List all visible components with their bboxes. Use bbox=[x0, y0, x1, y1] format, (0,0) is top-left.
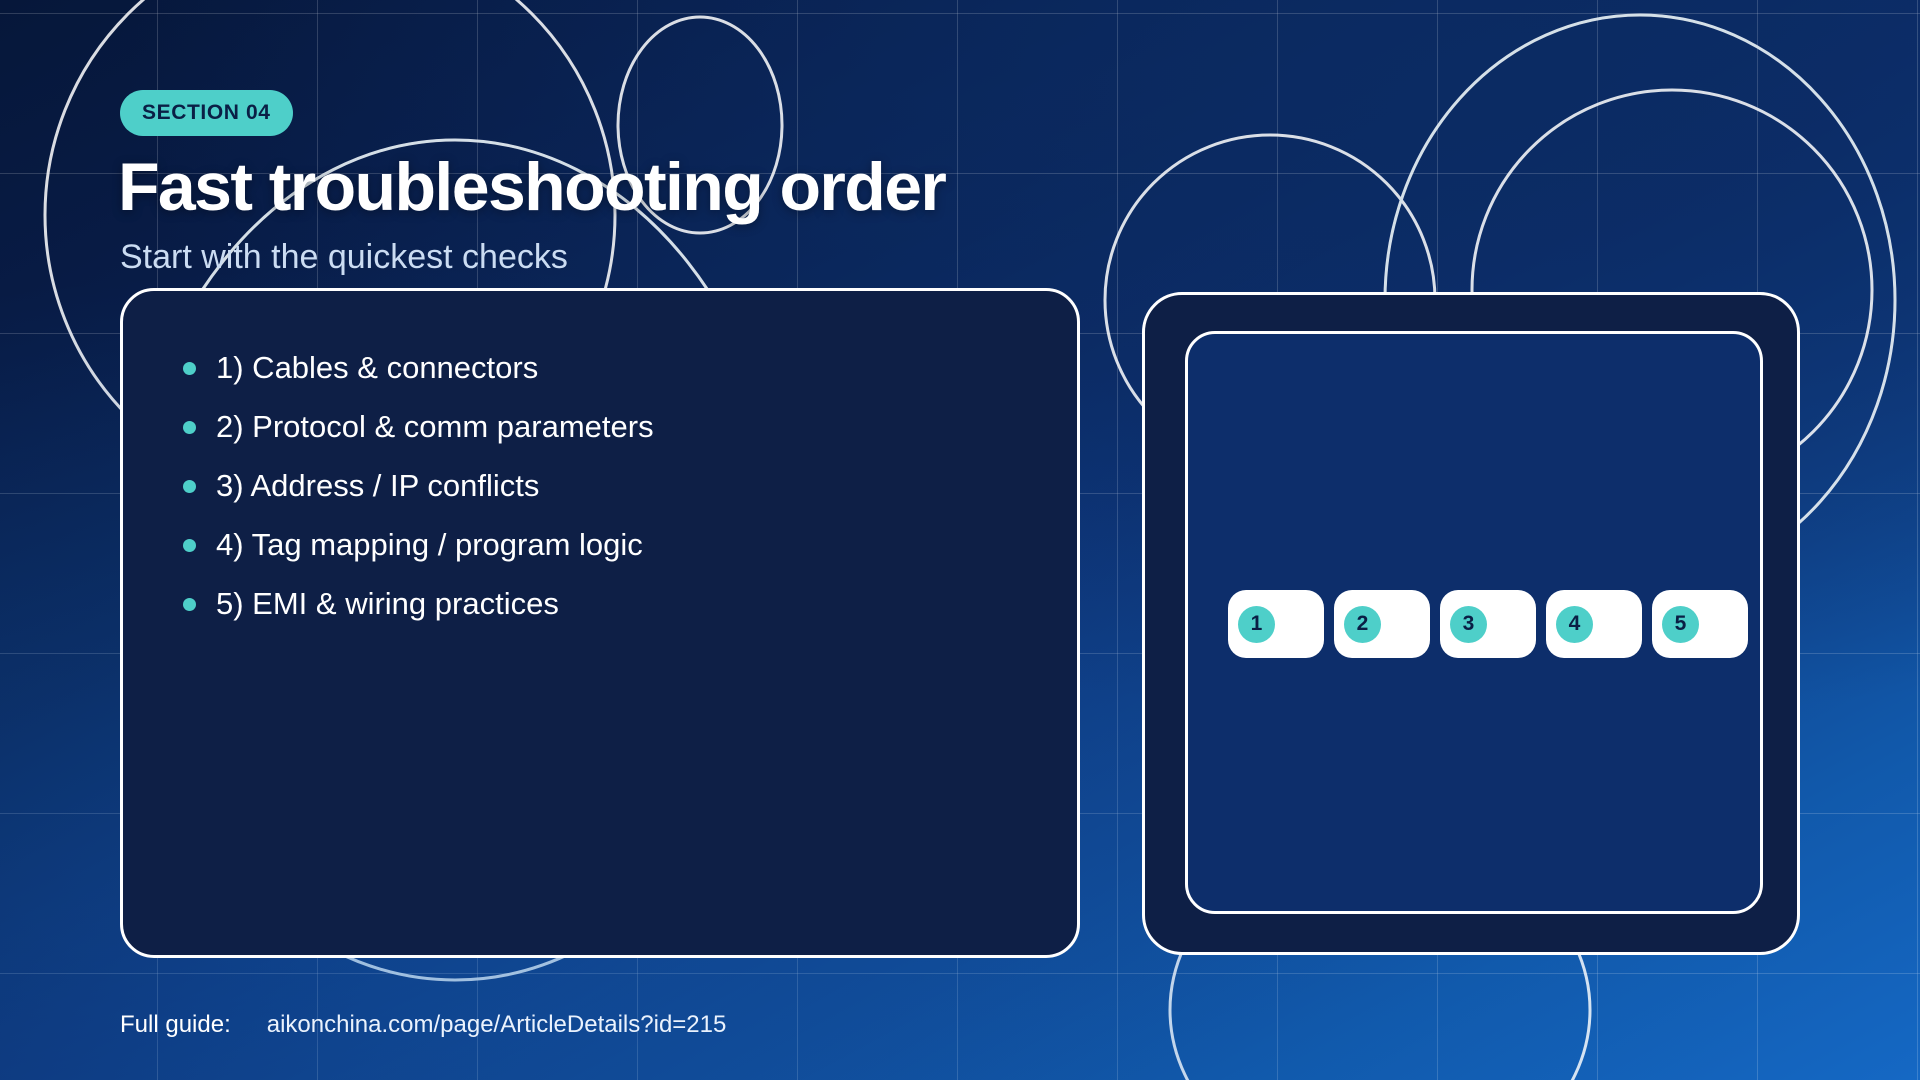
list-item: 4) Tag mapping / program logic bbox=[183, 516, 1077, 574]
bullet-dot-icon bbox=[183, 480, 196, 493]
step-chip[interactable]: 3 Settings bbox=[1440, 590, 1536, 658]
footer-label: Full guide: bbox=[120, 1011, 231, 1039]
step-chip-strip: 1 Cables 2 Protocol 3 Settings 4 Program… bbox=[1228, 590, 1763, 658]
list-item-label: 4) Tag mapping / program logic bbox=[216, 527, 643, 563]
list-item: 5) EMI & wiring practices bbox=[183, 575, 1077, 633]
list-item-label: 5) EMI & wiring practices bbox=[216, 586, 559, 622]
footer-url-link[interactable]: aikonchina.com/page/ArticleDetails?id=21… bbox=[267, 1011, 727, 1039]
step-number-badge: 2 bbox=[1344, 606, 1381, 643]
step-number-badge: 5 bbox=[1662, 606, 1699, 643]
step-chip[interactable]: 5 EMI/Wiring bbox=[1652, 590, 1748, 658]
list-item-label: 2) Protocol & comm parameters bbox=[216, 409, 654, 445]
bullet-dot-icon bbox=[183, 421, 196, 434]
section-badge: SECTION 04 bbox=[120, 90, 293, 136]
section-badge-label: SECTION 04 bbox=[142, 101, 271, 125]
list-item: 1) Cables & connectors bbox=[183, 339, 1077, 397]
bullet-dot-icon bbox=[183, 539, 196, 552]
step-number-badge: 4 bbox=[1556, 606, 1593, 643]
step-chip[interactable]: 2 Protocol bbox=[1334, 590, 1430, 658]
list-item-label: 1) Cables & connectors bbox=[216, 350, 538, 386]
footer: Full guide: aikonchina.com/page/ArticleD… bbox=[120, 1011, 726, 1039]
list-item: 3) Address / IP conflicts bbox=[183, 457, 1077, 515]
diagram-panel-outer: 1 Cables 2 Protocol 3 Settings 4 Program… bbox=[1142, 292, 1800, 955]
slide-stage: SECTION 04 Fast troubleshooting order St… bbox=[0, 0, 1920, 1080]
list-item: 2) Protocol & comm parameters bbox=[183, 398, 1077, 456]
bullet-dot-icon bbox=[183, 598, 196, 611]
step-chip-label: EMI/Wiring bbox=[1708, 610, 1763, 639]
page-subtitle: Start with the quickest checks bbox=[120, 238, 568, 277]
step-number-badge: 1 bbox=[1238, 606, 1275, 643]
step-number-badge: 3 bbox=[1450, 606, 1487, 643]
step-chip[interactable]: 1 Cables bbox=[1228, 590, 1324, 658]
bullet-dot-icon bbox=[183, 362, 196, 375]
page-title: Fast troubleshooting order bbox=[118, 148, 945, 226]
checklist-card: 1) Cables & connectors 2) Protocol & com… bbox=[120, 288, 1080, 958]
step-chip[interactable]: 4 Program bbox=[1546, 590, 1642, 658]
diagram-panel-inner: 1 Cables 2 Protocol 3 Settings 4 Program… bbox=[1185, 331, 1763, 914]
checklist: 1) Cables & connectors 2) Protocol & com… bbox=[123, 291, 1077, 633]
list-item-label: 3) Address / IP conflicts bbox=[216, 468, 539, 504]
